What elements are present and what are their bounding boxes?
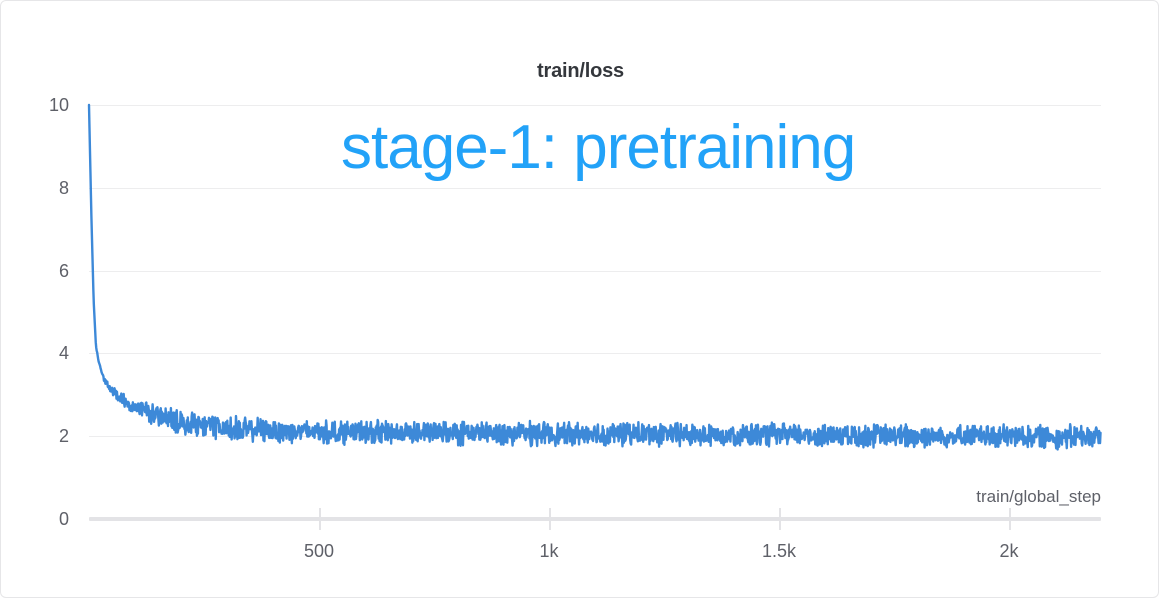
gridline <box>89 188 1101 189</box>
y-axis-tick-label: 4 <box>1 344 69 362</box>
y-axis-tick-label: 2 <box>1 427 69 445</box>
stage-annotation-label: stage-1: pretraining <box>341 117 855 179</box>
x-axis-tickmark <box>779 508 781 530</box>
x-axis-tick-label: 1k <box>504 542 594 560</box>
chart-panel: train/loss 0246810 5001k1.5k2k train/glo… <box>0 0 1159 598</box>
x-axis-tickmark <box>549 508 551 530</box>
x-axis-line <box>89 517 1101 521</box>
x-axis-tickmark <box>319 508 321 530</box>
y-axis-tick-label: 8 <box>1 179 69 197</box>
y-axis-tick-label: 6 <box>1 262 69 280</box>
x-axis-tick-label: 1.5k <box>734 542 824 560</box>
x-axis-tickmark <box>1009 508 1011 530</box>
gridline <box>89 105 1101 106</box>
y-axis-tick-label: 0 <box>1 510 69 528</box>
gridline <box>89 271 1101 272</box>
chart-title: train/loss <box>1 61 1159 81</box>
x-axis-tick-label: 2k <box>964 542 1054 560</box>
x-axis-tick-label: 500 <box>274 542 364 560</box>
gridline <box>89 436 1101 437</box>
loss-series-plot <box>1 1 1159 598</box>
gridline <box>89 353 1101 354</box>
x-axis-title: train/global_step <box>861 488 1101 505</box>
y-axis-tick-label: 10 <box>1 96 69 114</box>
